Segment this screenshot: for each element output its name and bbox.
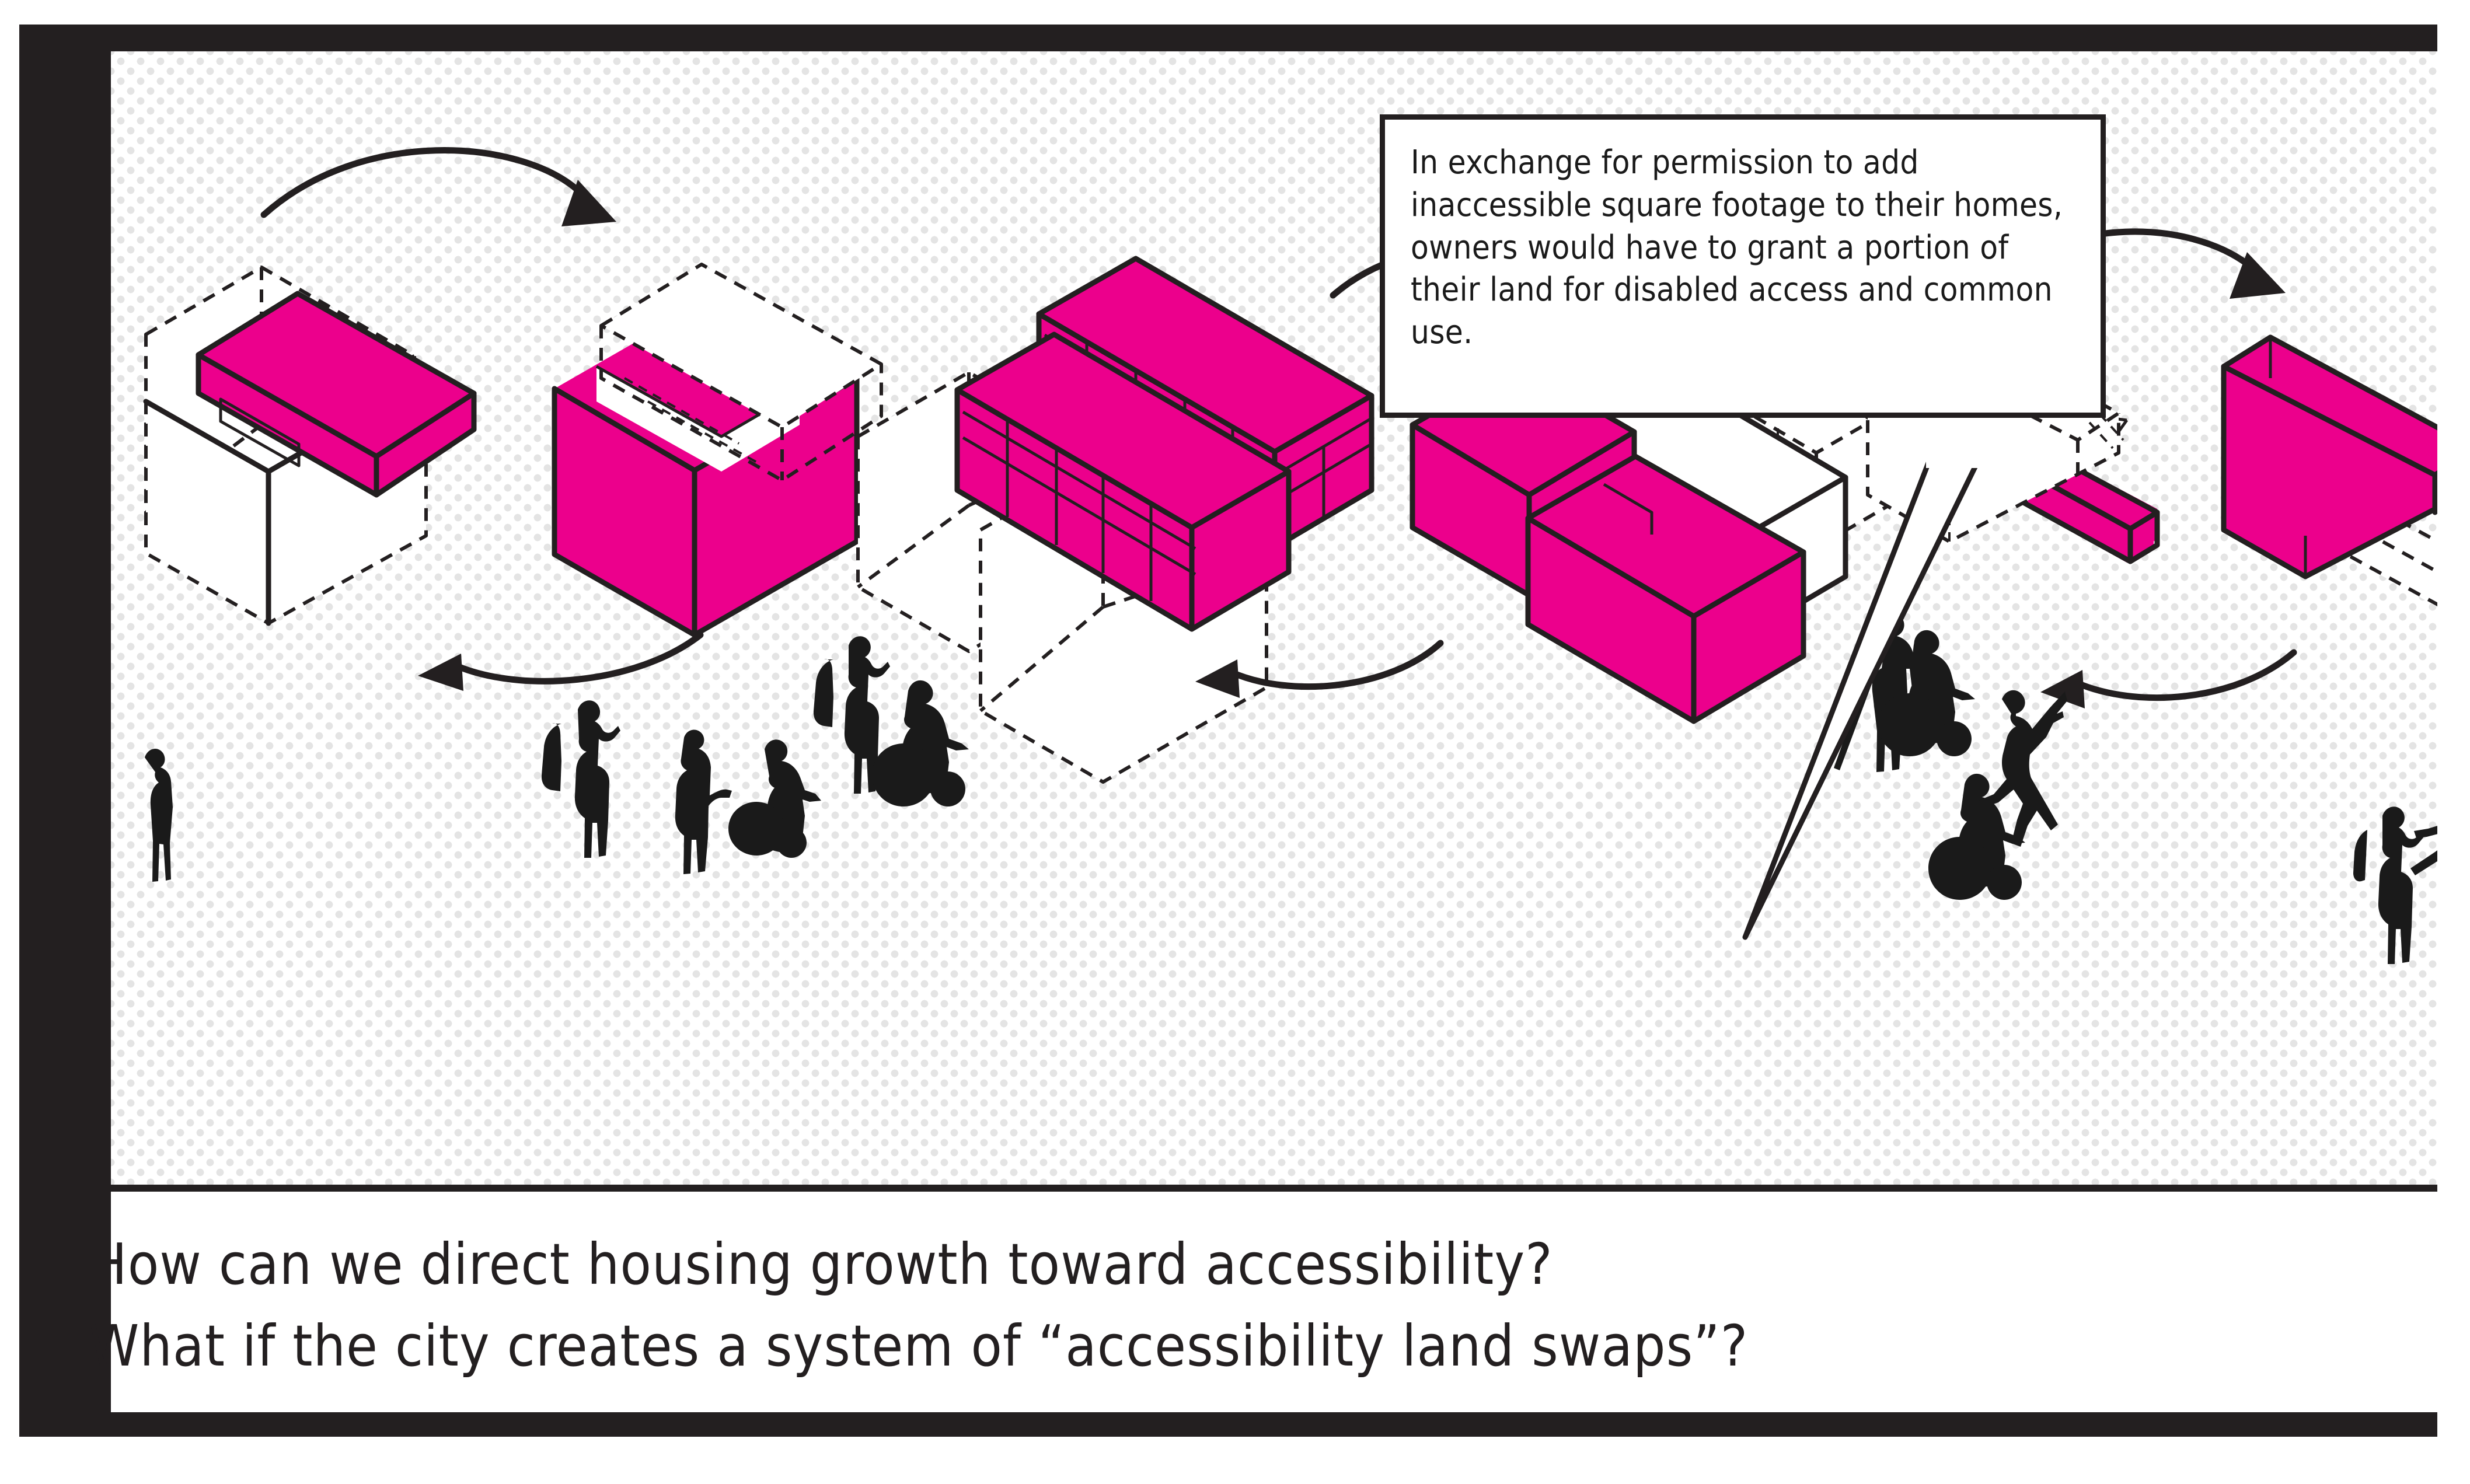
caption-line-1: How can we direct housing growth toward … <box>89 1231 1553 1297</box>
caption-line-2: What if the city creates a system of “ac… <box>89 1313 1748 1379</box>
swap-arrow-bottom-group1 <box>418 635 700 691</box>
wheelchair-user-b <box>1928 774 2025 900</box>
swap-arrow-bottom-group3 <box>2040 652 2294 708</box>
people-group1 <box>145 700 821 882</box>
caption-band <box>111 1192 2437 1412</box>
speech-bubble: In exchange for permission to add inacce… <box>1380 114 2106 418</box>
comic-panel-root: .pk{fill:#ec008c;} .wh{fill:#ffffff;} .l… <box>0 0 2470 1484</box>
speech-bubble-text: In exchange for permission to add inacce… <box>1411 142 2075 354</box>
swap-arrow-top-group1 <box>264 151 616 226</box>
leaping-person <box>2410 756 2437 875</box>
people-group3 <box>1878 630 2437 964</box>
group-single-family <box>145 151 881 882</box>
caption-divider <box>111 1185 2437 1191</box>
wheelchair-user-a <box>872 680 969 806</box>
